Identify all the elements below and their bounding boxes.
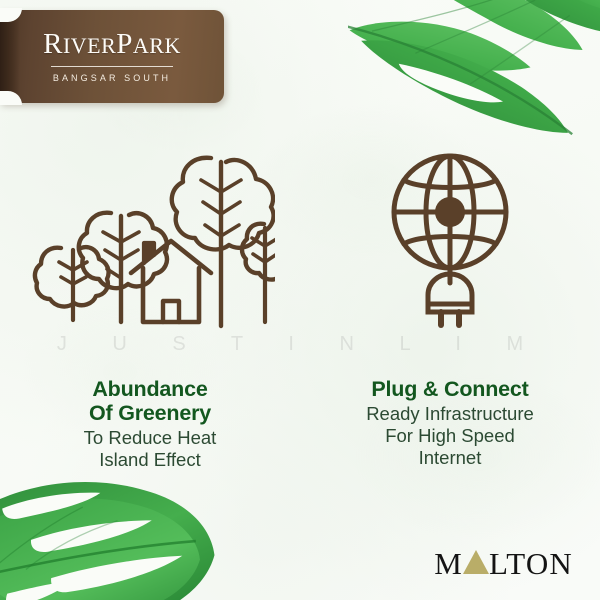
feature-connectivity-sub-line2: For High Speed [366,425,534,447]
malton-suffix: LTON [489,548,573,579]
feature-connectivity-sub-line3: Internet [366,447,534,469]
feature-greenery-sub-line1: To Reduce Heat [84,427,217,449]
riverpark-brand-banner: RIVERPARK BANGSAR SOUTH [0,10,224,103]
brand-wordmark-ark: ARK [133,33,181,58]
feature-connectivity-title-line1: Plug & Connect [371,377,528,401]
brand-divider-rule [51,66,173,67]
malton-wordmark: MLTON [434,548,573,579]
brand-wordmark: RIVERPARK [43,30,181,59]
brand-wordmark-iver: IVER [63,33,116,58]
feature-connectivity: Plug & Connect Ready Infrastructure For … [300,150,600,472]
brand-wordmark-r: R [43,28,63,60]
malton-a-triangle [463,550,489,574]
trees-and-house-icon [25,150,275,330]
feature-connectivity-sub-line1: Ready Infrastructure [366,403,534,425]
malton-logo: MLTON [434,546,573,580]
brand-wordmark-p: P [116,28,133,60]
globe-plug-icon [360,150,540,330]
feature-greenery-title: Abundance Of Greenery [89,377,211,425]
ribbon-fold-bottom [0,91,22,105]
monstera-leaf-top-right [348,0,600,162]
ribbon-fold-top [0,8,22,22]
feature-connectivity-subtitle: Ready Infrastructure For High Speed Inte… [366,403,534,470]
feature-greenery-title-line1: Abundance [89,377,211,401]
feature-connectivity-icon-slot [360,150,540,330]
brand-tagline: BANGSAR SOUTH [53,73,171,83]
feature-greenery-subtitle: To Reduce Heat Island Effect [84,427,217,471]
globe-hub-dot [435,197,465,227]
feature-greenery: Abundance Of Greenery To Reduce Heat Isl… [0,150,300,472]
malton-prefix: M [434,548,463,579]
gold-triangle-icon [463,550,489,574]
feature-greenery-sub-line2: Island Effect [84,449,217,471]
feature-greenery-icon-slot [25,150,275,330]
promo-poster: RIVERPARK BANGSAR SOUTH J U S T I N L I … [0,0,600,600]
feature-connectivity-title: Plug & Connect [371,377,528,401]
feature-greenery-title-line2: Of Greenery [89,401,211,425]
feature-columns: Abundance Of Greenery To Reduce Heat Isl… [0,150,600,472]
